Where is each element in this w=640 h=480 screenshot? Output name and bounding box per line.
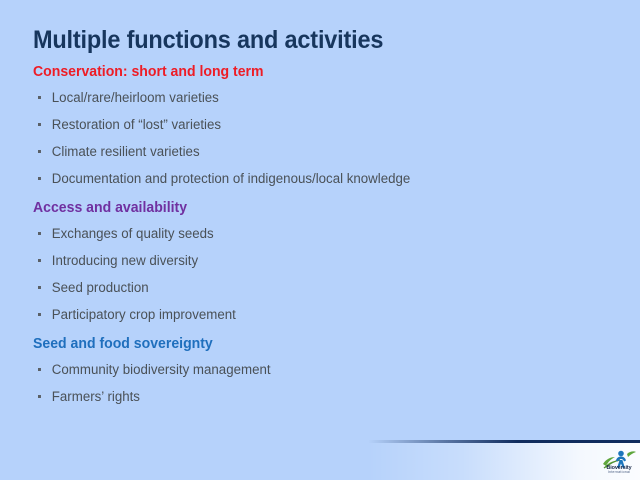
bullet-marker-icon <box>38 150 41 153</box>
bullet-marker-icon <box>38 395 41 398</box>
list-item-label: Community biodiversity management <box>52 362 271 377</box>
list-item: Documentation and protection of indigeno… <box>38 165 631 192</box>
list-item: Introducing new diversity <box>38 247 631 274</box>
list-item-label: Restoration of “lost” varieties <box>52 117 221 132</box>
bullet-marker-icon <box>38 232 41 235</box>
list-item-label: Introducing new diversity <box>52 253 198 268</box>
bullet-marker-icon <box>38 259 41 262</box>
bullet-marker-icon <box>38 313 41 316</box>
section-access: Access and availability Exchanges of qua… <box>0 192 640 328</box>
slide-body: Conservation: short and long term Local/… <box>0 62 640 410</box>
section-sovereignty: Seed and food sovereignty Community biod… <box>0 328 640 410</box>
list-item: Climate resilient varieties <box>38 138 631 165</box>
bullet-marker-icon <box>38 286 41 289</box>
list-item-label: Participatory crop improvement <box>52 307 236 322</box>
list-item: Restoration of “lost” varieties <box>38 111 631 138</box>
list-item-label: Seed production <box>52 280 149 295</box>
list-item-label: Local/rare/heirloom varieties <box>52 90 219 105</box>
page-title: Multiple functions and activities <box>33 26 383 55</box>
list-item-label: Climate resilient varieties <box>52 144 200 159</box>
list-item: Participatory crop improvement <box>38 301 631 328</box>
list-item-label: Exchanges of quality seeds <box>52 226 214 241</box>
section-heading-sovereignty: Seed and food sovereignty <box>33 328 622 353</box>
section-heading-access: Access and availability <box>33 192 622 217</box>
list-item: Seed production <box>38 274 631 301</box>
bullet-marker-icon <box>38 123 41 126</box>
bullet-marker-icon <box>38 368 41 371</box>
list-item: Local/rare/heirloom varieties <box>38 84 631 111</box>
list-item: Community biodiversity management <box>38 356 631 383</box>
section-heading-conservation: Conservation: short and long term <box>33 62 622 81</box>
bullet-list-sovereignty: Community biodiversity management Farmer… <box>0 356 640 410</box>
list-item-label: Documentation and protection of indigeno… <box>52 171 411 186</box>
list-item-label: Farmers’ rights <box>52 389 140 404</box>
list-item: Exchanges of quality seeds <box>38 220 631 247</box>
bullet-marker-icon <box>38 177 41 180</box>
slide-canvas: Multiple functions and activities Conser… <box>0 0 640 480</box>
section-conservation: Conservation: short and long term Local/… <box>0 62 640 192</box>
bullet-list-access: Exchanges of quality seeds Introducing n… <box>0 220 640 328</box>
logo-subwordmark: International <box>600 470 638 474</box>
bullet-list-conservation: Local/rare/heirloom varieties Restoratio… <box>0 84 640 192</box>
list-item: Farmers’ rights <box>38 383 631 410</box>
bullet-marker-icon <box>38 96 41 99</box>
